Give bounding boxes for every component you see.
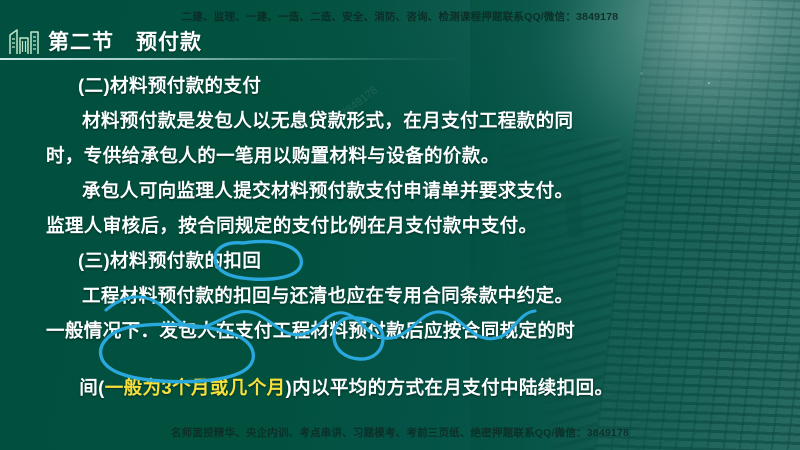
text-line: (二)材料预付款的支付 (78, 72, 261, 98)
presentation-slide: 3849178 二建、监理、一建、一造、二造、安全、消防、咨询、检测课程押题联系… (0, 0, 800, 450)
page-title: 第二节 预付款 (48, 22, 202, 60)
text-line: 一般情况下．发包人在支付工程材料预付款后应按合同规定的时 (46, 317, 575, 343)
text-line: 材料预付款是发包人以无息贷款形式，在月支付工程款的同 (82, 107, 573, 133)
text-line: (三)材料预付款的扣回 (78, 247, 261, 273)
text-line-highlighted: 间(一般为3个月或几个月)内以平均的方式在月支付中陆续扣回。 (46, 352, 613, 422)
building-icon (8, 26, 42, 56)
promo-banner-bottom: 名师面授精华、央企内训、考点串讲、习题模考、考前三页纸、绝密押题联系QQ/微信：… (0, 425, 800, 440)
highlighted-text-segment: 一般为3个月或几个月 (105, 377, 286, 398)
text-segment: 间( (79, 377, 104, 398)
promo-banner-top: 二建、监理、一建、一造、二造、安全、消防、咨询、检测课程押题联系QQ/微信：38… (0, 9, 800, 24)
text-line: 时，专供给承包人的一笔用以购置材料与设备的价款。 (46, 142, 500, 168)
text-segment: )内以平均的方式在月支付中陆续扣回。 (286, 377, 614, 398)
text-line: 监理人审核后，按合同规定的支付比例在月支付款中支付。 (46, 212, 537, 238)
text-line: 工程材料预付款的扣回与还清也应在专用合同条款中约定。 (82, 282, 573, 308)
text-line: 承包人可向监理人提交材料预付款支付申请单并要求支付。 (82, 177, 573, 203)
slide-header: 第二节 预付款 (0, 22, 800, 60)
header-divider (0, 58, 470, 60)
